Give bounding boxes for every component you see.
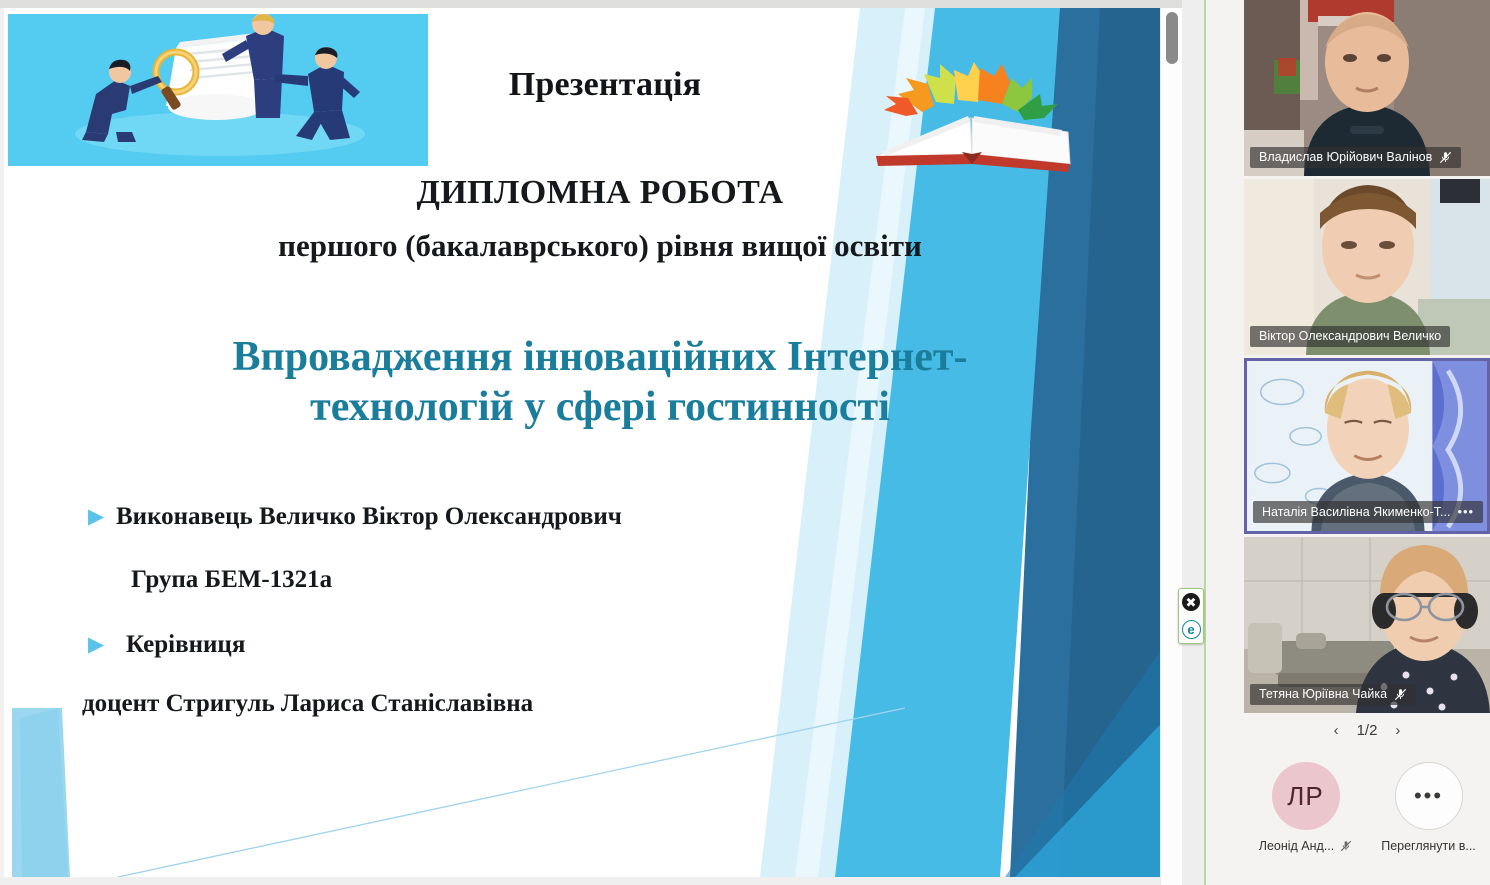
slide-degree-level: першого (бакалаврського) рівня вищої осв… [110, 228, 1090, 264]
meeting-window: Презентація ДИПЛОМНА РОБОТА першого (бак… [0, 0, 1490, 885]
participant-name-badge: Наталія Василівна Якименко-Т... ••• [1253, 501, 1483, 523]
page-indicator: 1/2 [1357, 722, 1378, 739]
participant-name: Леонід Анд... [1259, 839, 1335, 853]
panel-divider [1204, 0, 1206, 885]
participant-name: Наталія Василівна Якименко-Т... [1262, 505, 1450, 519]
bullet-supervisor: ▶ Керівниця [82, 630, 982, 660]
roster-pagination: ‹ 1/2 › [1244, 714, 1490, 746]
bullet-supervisor-name: доцент Стригуль Лариса Станіславівна [82, 690, 982, 718]
slide-main-title-line-2: технологій у сфері гостинності [100, 383, 1100, 433]
video-tile-participant-3-active-speaker[interactable]: Наталія Василівна Якименко-Т... ••• [1244, 358, 1490, 534]
more-participants-icon[interactable]: ••• [1395, 762, 1463, 830]
audio-only-participants: ЛР Леонід Анд... ••• Переглянути в... [1244, 762, 1490, 853]
prev-page-icon[interactable]: ‹ [1332, 722, 1341, 739]
mic-muted-icon [1340, 840, 1352, 852]
floating-mini-toolbar[interactable]: ✖ e [1178, 588, 1204, 644]
edge-browser-icon[interactable]: e [1182, 620, 1201, 639]
close-icon[interactable]: ✖ [1182, 593, 1200, 611]
participant-roster-panel: Владислав Юрійович Валінов [1206, 0, 1490, 885]
roster-overflow[interactable]: ••• Переглянути в... [1373, 762, 1485, 853]
audio-participant-label: Леонід Анд... [1259, 839, 1353, 853]
next-page-icon[interactable]: › [1393, 722, 1402, 739]
participant-name-badge: Віктор Олександрович Величко [1250, 326, 1450, 347]
more-options-icon[interactable]: ••• [1457, 504, 1474, 519]
slide-document-type: ДИПЛОМНА РОБОТА [150, 174, 1050, 212]
stage-scrollbar[interactable] [1160, 8, 1182, 885]
participant-name-badge: Владислав Юрійович Валінов [1250, 147, 1461, 168]
overflow-text: Переглянути в... [1381, 839, 1476, 853]
avatar[interactable]: ЛР [1272, 762, 1340, 830]
bullet-group-label: Група БЕМ-1321а [131, 566, 982, 594]
stage-scrollbar-thumb[interactable] [1166, 12, 1178, 64]
mic-muted-icon [1439, 151, 1452, 164]
slide-main-title-line-1: Впровадження інноваційних Інтернет- [100, 333, 1100, 383]
bullet-supervisor-label: Керівниця [116, 630, 245, 660]
participant-name-badge: Тетяна Юріївна Чайка [1250, 684, 1416, 705]
mic-muted-icon [1394, 688, 1407, 701]
participant-name: Віктор Олександрович Величко [1259, 329, 1441, 343]
video-tile-participant-1[interactable]: Владислав Юрійович Валінов [1244, 0, 1490, 176]
bullet-performer: ▶ Виконавець Величко Віктор Олександрови… [82, 502, 982, 532]
shared-content-stage: Презентація ДИПЛОМНА РОБОТА першого (бак… [0, 0, 1182, 885]
bullet-triangle-icon: ▶ [82, 502, 116, 532]
bullet-triangle-icon-2: ▶ [82, 630, 116, 660]
video-tile-participant-4[interactable]: Тетяна Юріївна Чайка [1244, 537, 1490, 713]
video-tile-participant-2[interactable]: Віктор Олександрович Величко [1244, 179, 1490, 355]
stage-top-strip [0, 0, 1182, 8]
overflow-label: Переглянути в... [1381, 839, 1476, 853]
participant-name: Владислав Юрійович Валінов [1259, 150, 1432, 164]
slide-main-title: Впровадження інноваційних Інтернет- техн… [100, 333, 1100, 432]
slide-kicker: Презентація [430, 66, 780, 104]
bullet-performer-label: Виконавець Величко Віктор Олександрович [116, 502, 622, 532]
slide-bullet-list: ▶ Виконавець Величко Віктор Олександрови… [82, 502, 982, 718]
slide-text-content: Презентація ДИПЛОМНА РОБОТА першого (бак… [0, 8, 1176, 877]
audio-participant-1[interactable]: ЛР Леонід Анд... [1250, 762, 1362, 853]
participant-name: Тетяна Юріївна Чайка [1259, 687, 1387, 701]
presentation-slide[interactable]: Презентація ДИПЛОМНА РОБОТА першого (бак… [0, 8, 1176, 877]
video-tile-grid: Владислав Юрійович Валінов [1244, 0, 1490, 716]
